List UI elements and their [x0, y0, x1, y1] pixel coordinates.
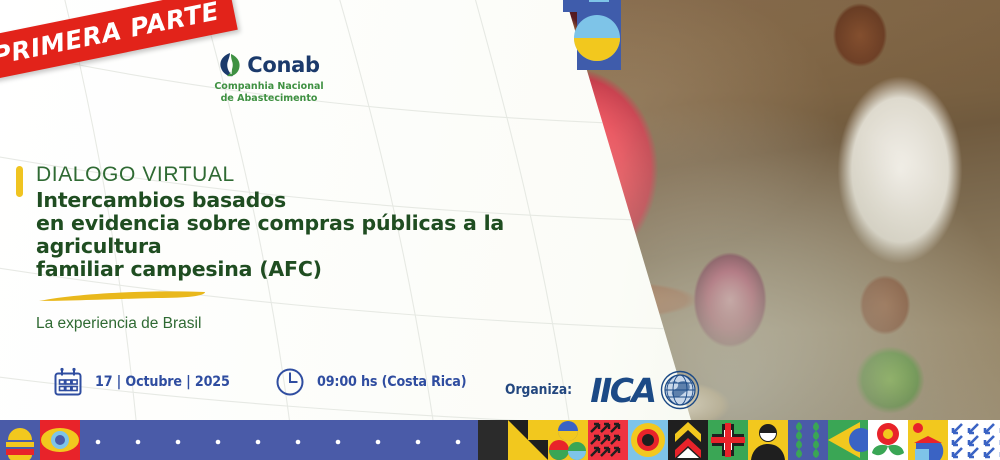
event-date-item: 17 | Octubre | 2025: [52, 366, 248, 398]
band-tile-arrows-blue: [948, 420, 1000, 460]
bottom-decorative-band: [0, 420, 1000, 460]
headline-line-2: en evidencia sobre compras públicas a la…: [36, 212, 596, 258]
headline: Intercambios basados en evidencia sobre …: [36, 189, 596, 281]
subtitle-label: La experiencia de Brasil: [36, 315, 596, 333]
conab-logo: Conab Companhia Nacional de Abasteciment…: [204, 52, 334, 105]
yellow-accent-bar: [16, 166, 23, 197]
band-tile-flower: [868, 420, 908, 460]
band-tile-dots: [80, 420, 478, 460]
title-block: DIALOGO VIRTUAL Intercambios basados en …: [36, 162, 596, 333]
iica-wordmark: IICA: [590, 374, 654, 407]
conab-wordmark: Conab: [247, 53, 320, 77]
conab-tagline-line2: de Abastecimento: [204, 93, 334, 105]
organiza-block: Organiza: IICA: [505, 370, 700, 410]
conab-leaf-icon: [218, 52, 242, 78]
organiza-label: Organiza:: [505, 382, 572, 398]
headline-line-1: Intercambios basados: [36, 189, 596, 212]
band-tile-cross: [708, 420, 748, 460]
band-tile-house: [908, 420, 948, 460]
kicker-label: DIALOGO VIRTUAL: [36, 162, 596, 188]
band-tile-target: [628, 420, 668, 460]
band-tile-wheat: [788, 420, 828, 460]
blue-yellow-mark-icon: [563, 0, 631, 70]
event-time-text: 09:00 hs (Costa Rica): [317, 374, 466, 390]
headline-line-3: familiar campesina (AFC): [36, 258, 596, 281]
event-time-item: 09:00 hs (Costa Rica): [274, 366, 487, 398]
band-tile-half-circles: [0, 420, 40, 460]
clock-icon: [274, 366, 306, 398]
band-tile-eye: [40, 420, 80, 460]
event-meta-row: 17 | Octubre | 2025 09:00 hs (Costa Rica…: [52, 366, 487, 398]
band-tile-person: [748, 420, 788, 460]
poster-canvas: PRIMERA PARTE Conab Companhia Nacional d…: [0, 0, 1000, 460]
band-tile-chevrons: [668, 420, 708, 460]
yellow-swoosh-underline: [37, 290, 207, 303]
band-tile-circles: [548, 420, 588, 460]
calendar-icon: [52, 366, 84, 398]
event-date-text: 17 | Octubre | 2025: [95, 374, 230, 390]
conab-tagline-line1: Companhia Nacional: [204, 81, 334, 93]
globe-emblem-icon: [660, 370, 700, 410]
band-tile-dark: [478, 420, 508, 460]
band-tile-triangles: [508, 420, 548, 460]
band-tile-flag: [828, 420, 868, 460]
band-tile-arrows-red: [588, 420, 628, 460]
